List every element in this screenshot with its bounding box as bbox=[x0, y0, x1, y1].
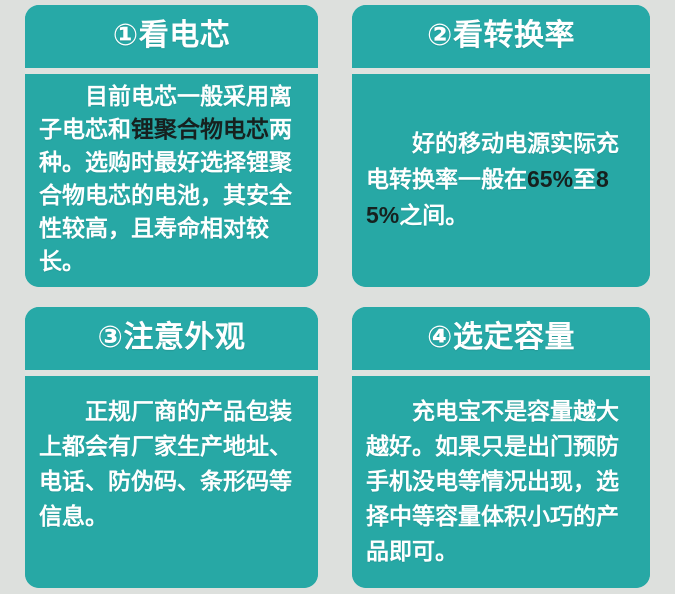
card-4-body: 充电宝不是容量越大越好。如果只是出门预防手机没电等情况出现，选择中等容量体积小巧… bbox=[352, 376, 650, 588]
info-card-3: ③注意外观 正规厂商的产品包装上都会有厂家生产地址、电话、防伪码、条形码等信息。 bbox=[25, 307, 318, 588]
info-card-2: ②看转换率 好的移动电源实际充电转换率一般在65%至85%之间。 bbox=[352, 5, 650, 287]
infographic-board: ①看电芯 目前电芯一般采用离子电芯和锂聚合物电芯两种。选购时最好选择锂聚合物电芯… bbox=[0, 0, 675, 594]
card-2-title: ②看转换率 bbox=[427, 21, 575, 51]
card-1-title: ①看电芯 bbox=[113, 21, 230, 51]
info-card-4: ④选定容量 充电宝不是容量越大越好。如果只是出门预防手机没电等情况出现，选择中等… bbox=[352, 307, 650, 588]
card-1-header: ①看电芯 bbox=[25, 5, 318, 68]
card-3-body: 正规厂商的产品包装上都会有厂家生产地址、电话、防伪码、条形码等信息。 bbox=[25, 376, 318, 588]
card-4-body-text: 充电宝不是容量越大越好。如果只是出门预防手机没电等情况出现，选择中等容量体积小巧… bbox=[366, 394, 636, 569]
emphasis-text: 锂聚合物电芯 bbox=[131, 116, 269, 142]
emphasis-text: 65% bbox=[527, 166, 573, 192]
plain-text: 充电宝不是容量越大越好。如果只是出门预防手机没电等情况出现，选择中等容量体积小巧… bbox=[366, 398, 619, 564]
plain-text: 正规厂商的产品包装上都会有厂家生产地址、电话、防伪码、条形码等信息。 bbox=[39, 398, 292, 529]
card-3-header: ③注意外观 bbox=[25, 307, 318, 370]
card-3-body-text: 正规厂商的产品包装上都会有厂家生产地址、电话、防伪码、条形码等信息。 bbox=[39, 394, 304, 534]
info-card-1: ①看电芯 目前电芯一般采用离子电芯和锂聚合物电芯两种。选购时最好选择锂聚合物电芯… bbox=[25, 5, 318, 287]
card-2-body: 好的移动电源实际充电转换率一般在65%至85%之间。 bbox=[352, 74, 650, 287]
plain-text: 至 bbox=[573, 166, 596, 192]
card-2-body-text: 好的移动电源实际充电转换率一般在65%至85%之间。 bbox=[366, 125, 636, 233]
card-1-body-text: 目前电芯一般采用离子电芯和锂聚合物电芯两种。选购时最好选择锂聚合物电芯的电池，其… bbox=[39, 80, 304, 278]
card-3-title: ③注意外观 bbox=[98, 323, 246, 353]
card-2-header: ②看转换率 bbox=[352, 5, 650, 68]
card-1-body: 目前电芯一般采用离子电芯和锂聚合物电芯两种。选购时最好选择锂聚合物电芯的电池，其… bbox=[25, 74, 318, 287]
card-4-title: ④选定容量 bbox=[427, 323, 575, 353]
card-4-header: ④选定容量 bbox=[352, 307, 650, 370]
plain-text: 之间。 bbox=[399, 202, 468, 228]
